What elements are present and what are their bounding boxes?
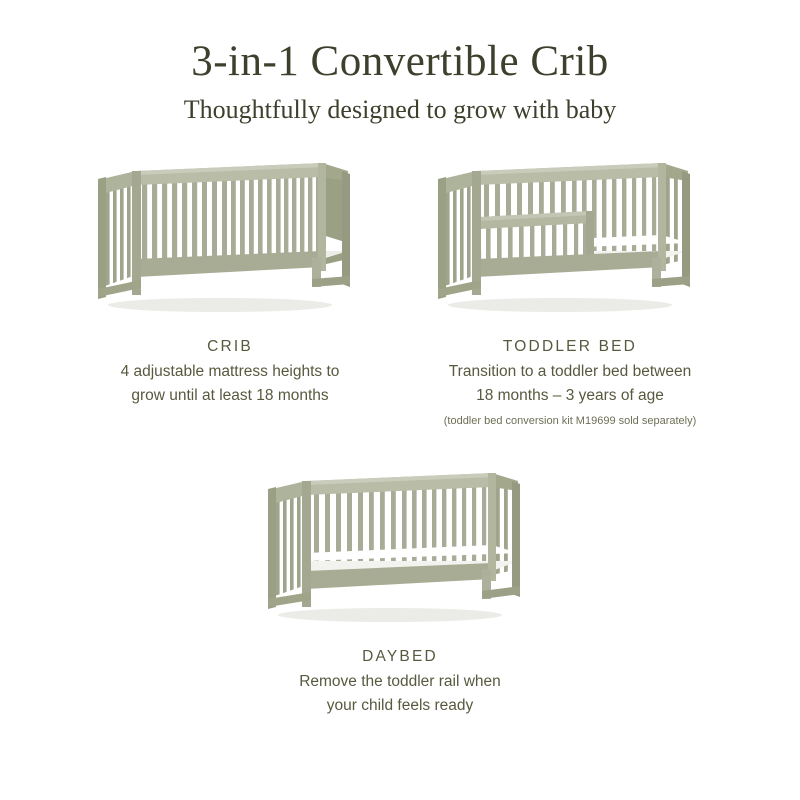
base-right: [482, 569, 520, 599]
infographic-page: 3-in-1 Convertible Crib Thoughtfully des…: [0, 0, 800, 800]
modes-row-bottom: DAYBED Remove the toddler rail when your…: [0, 457, 800, 717]
mode-desc-crib-line1: 4 adjustable mattress heights to: [121, 361, 340, 383]
floor-shadow: [448, 298, 672, 312]
mode-label-crib: CRIB: [207, 338, 253, 356]
floor-shadow: [278, 608, 502, 622]
daybed-illustration: [260, 457, 540, 632]
mode-card-crib: CRIB 4 adjustable mattress heights to gr…: [60, 147, 400, 407]
mode-desc-crib-line2: grow until at least 18 months: [131, 385, 328, 407]
floor-shadow: [108, 298, 332, 312]
mode-desc-daybed-line2: your child feels ready: [327, 695, 473, 717]
mode-card-daybed: DAYBED Remove the toddler rail when your…: [230, 457, 570, 717]
mode-label-daybed: DAYBED: [362, 648, 438, 666]
mode-desc-toddler-line2: 18 months – 3 years of age: [476, 385, 664, 407]
page-title: 3-in-1 Convertible Crib: [0, 38, 800, 85]
crib-illustration: [90, 147, 370, 322]
toddler-bed-illustration: [430, 147, 710, 322]
mode-fineprint-toddler: (toddler bed conversion kit M19699 sold …: [444, 414, 697, 429]
rear-right-post: [512, 481, 520, 579]
mode-desc-toddler-line1: Transition to a toddler bed between: [449, 361, 691, 383]
rear-right-post: [682, 171, 690, 269]
front-right-post: [488, 473, 496, 581]
mode-card-toddler-bed: TODDLER BED Transition to a toddler bed …: [400, 147, 740, 429]
front-right-post: [658, 163, 666, 271]
rear-right-post: [342, 171, 350, 269]
header: 3-in-1 Convertible Crib Thoughtfully des…: [0, 0, 800, 125]
front-right-post: [318, 163, 326, 271]
modes-row-top: CRIB 4 adjustable mattress heights to gr…: [0, 147, 800, 429]
mode-label-toddler-bed: TODDLER BED: [503, 338, 637, 356]
page-subtitle: Thoughtfully designed to grow with baby: [0, 95, 800, 125]
mode-desc-daybed-line1: Remove the toddler rail when: [299, 671, 501, 693]
